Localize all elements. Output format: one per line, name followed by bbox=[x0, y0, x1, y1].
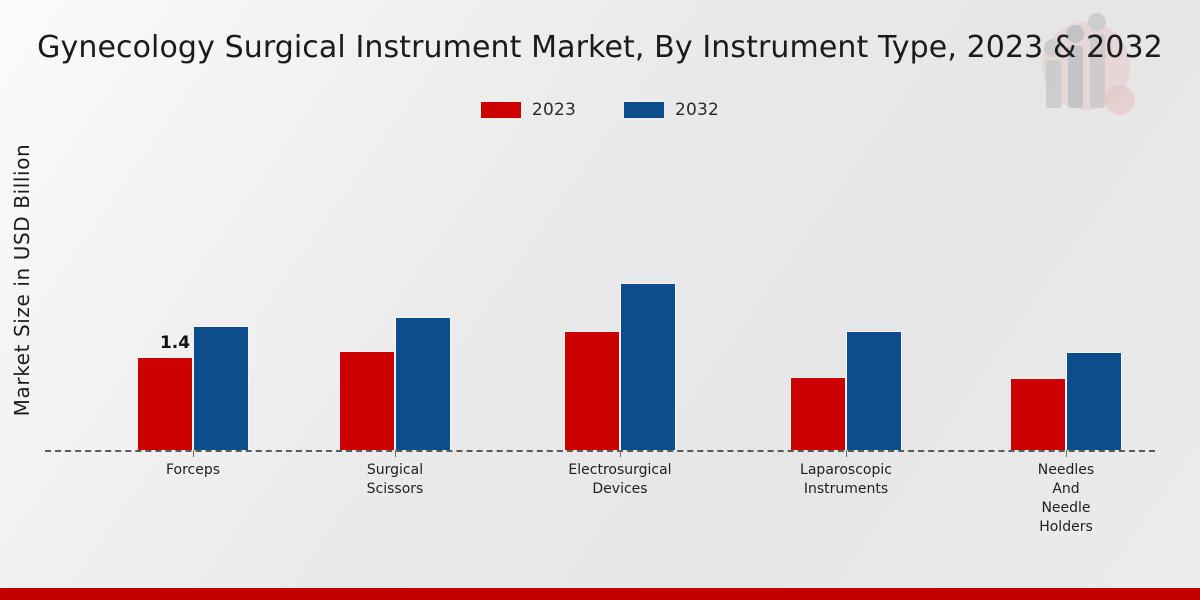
bar-2032-2[interactable] bbox=[620, 283, 676, 450]
plot-area: 1.4 Forceps Surgical Scissors Electrosur… bbox=[45, 130, 1155, 450]
y-axis-title: Market Size in USD Billion bbox=[10, 100, 34, 460]
x-axis-label-4: Needles And Needle Holders bbox=[981, 461, 1151, 537]
bar-group-3 bbox=[761, 130, 931, 450]
x-axis-label-3: Laparoscopic Instruments bbox=[761, 461, 931, 499]
x-axis-label-2: Electrosurgical Devices bbox=[535, 461, 705, 499]
footer-accent-bar bbox=[0, 588, 1200, 600]
bar-group-1 bbox=[310, 130, 480, 450]
x-axis-tick-3 bbox=[846, 450, 847, 457]
bar-2023-2[interactable] bbox=[564, 331, 620, 450]
x-axis-label-0: Forceps bbox=[108, 461, 278, 480]
bar-group-4 bbox=[981, 130, 1151, 450]
bar-value-label-forceps-2023: 1.4 bbox=[147, 333, 203, 353]
chart-canvas: Gynecology Surgical Instrument Market, B… bbox=[0, 0, 1200, 600]
bar-2032-1[interactable] bbox=[395, 317, 451, 450]
legend-item-2023[interactable]: 2023 bbox=[481, 100, 576, 120]
bar-2023-4[interactable] bbox=[1010, 378, 1066, 450]
legend-swatch-2032 bbox=[624, 102, 664, 118]
bar-2032-4[interactable] bbox=[1066, 352, 1122, 450]
legend-label-2023: 2023 bbox=[532, 100, 576, 120]
x-axis-label-1: Surgical Scissors bbox=[310, 461, 480, 499]
bar-group-0 bbox=[108, 130, 278, 450]
bar-2023-3[interactable] bbox=[790, 377, 846, 450]
bar-group-2 bbox=[535, 130, 705, 450]
x-axis-tick-0 bbox=[193, 450, 194, 457]
chart-legend: 2023 2032 bbox=[0, 100, 1200, 120]
legend-item-2032[interactable]: 2032 bbox=[624, 100, 719, 120]
bar-2023-0[interactable] bbox=[137, 357, 193, 450]
x-axis-tick-2 bbox=[620, 450, 621, 457]
chart-title: Gynecology Surgical Instrument Market, B… bbox=[0, 30, 1200, 65]
legend-swatch-2023 bbox=[481, 102, 521, 118]
x-axis-baseline bbox=[45, 450, 1155, 452]
bar-2032-3[interactable] bbox=[846, 331, 902, 450]
bar-2023-1[interactable] bbox=[339, 351, 395, 450]
x-axis-tick-1 bbox=[395, 450, 396, 457]
x-axis-tick-4 bbox=[1066, 450, 1067, 457]
legend-label-2032: 2032 bbox=[675, 100, 719, 120]
